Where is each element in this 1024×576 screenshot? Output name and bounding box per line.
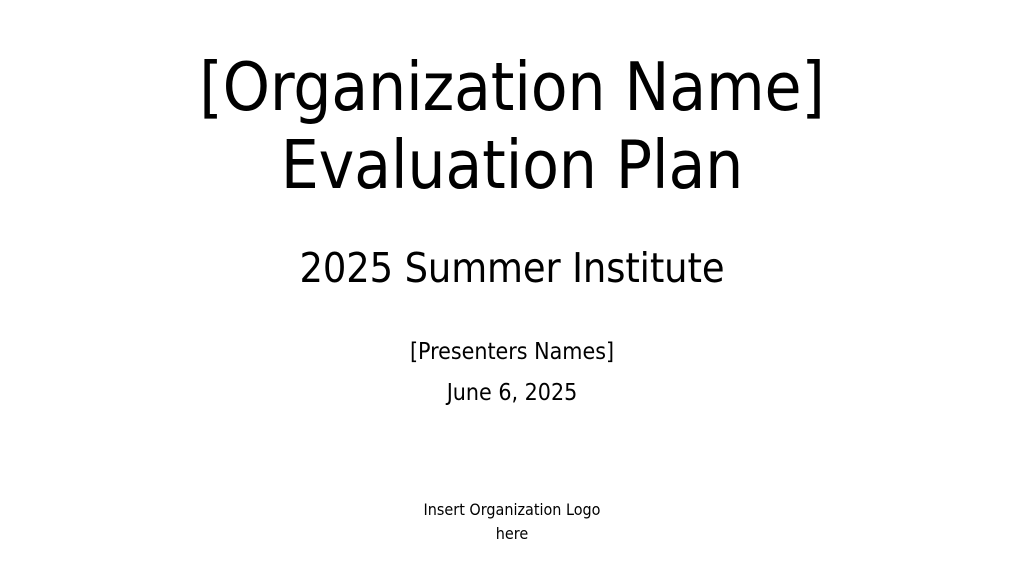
slide-title-line-2: Evaluation Plan bbox=[0, 126, 1024, 204]
logo-placeholder-text: Insert Organization Logo here bbox=[412, 498, 612, 546]
slide-title: [Organization Name] Evaluation Plan bbox=[0, 48, 1024, 204]
presentation-date: June 6, 2025 bbox=[0, 373, 1024, 414]
logo-placeholder: Insert Organization Logo here bbox=[0, 498, 1024, 546]
slide-subtitle: 2025 Summer Institute bbox=[0, 242, 1024, 294]
presenter-info: [Presenters Names] June 6, 2025 bbox=[0, 332, 1024, 414]
presenter-names: [Presenters Names] bbox=[0, 332, 1024, 373]
slide-title-line-1: [Organization Name] bbox=[0, 48, 1024, 126]
title-slide: [Organization Name] Evaluation Plan 2025… bbox=[0, 0, 1024, 576]
slide-subtitle-line-1: 2025 Summer Institute bbox=[0, 242, 1024, 294]
